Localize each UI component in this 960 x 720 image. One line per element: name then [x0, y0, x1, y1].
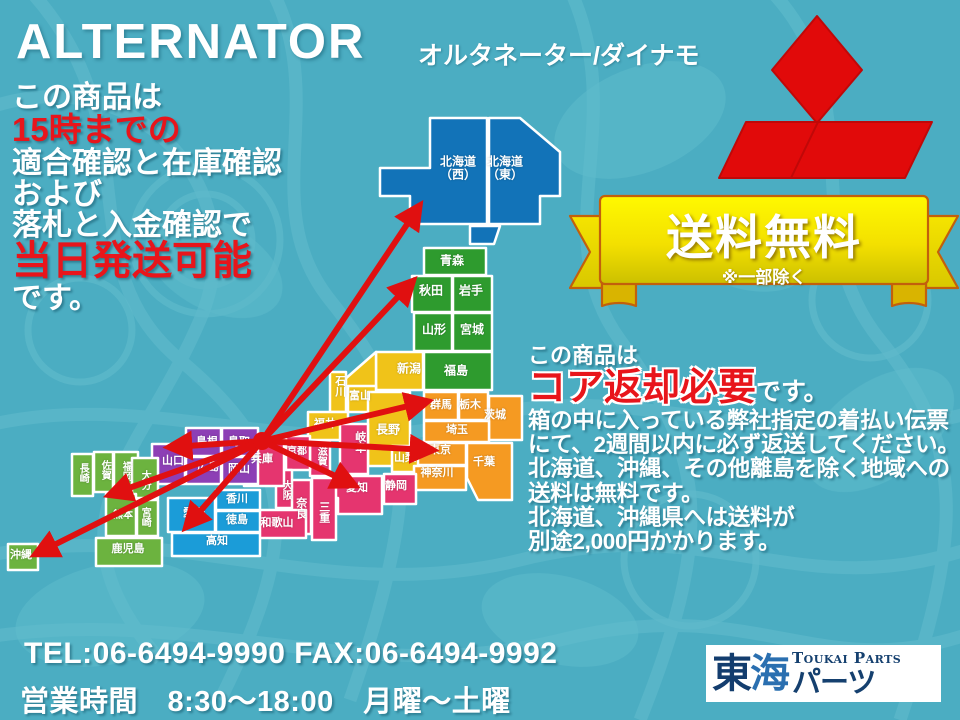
page-subtitle: オルタネーター/ダイナモ	[418, 44, 699, 69]
prefecture-label: 三重	[317, 501, 329, 523]
right-copy-block: この商品は コア返却必要です。 箱の中に入っている弊社指定の着払い伝票 にて、2…	[528, 344, 958, 555]
left-copy-deadline: 15時までの	[12, 113, 342, 147]
prefecture-label: 石川	[333, 375, 345, 397]
prefecture-label: 北海道（西）	[440, 155, 476, 180]
right-copy-line-6: 送料は無料です。	[528, 482, 958, 506]
page-title: ALTERNATOR	[16, 18, 365, 67]
prefecture-label: 愛媛	[183, 508, 205, 520]
right-copy-line-8: 別途2,000円かかります。	[528, 530, 958, 554]
prefecture-label: 埼玉	[446, 425, 468, 437]
prefecture-label: 福岡	[120, 461, 131, 481]
prefecture-label: 奈良	[294, 497, 306, 519]
logo-latin-name: Toukai Parts	[792, 651, 901, 666]
prefecture-label: 静岡	[385, 481, 407, 493]
prefecture-label: 茨城	[484, 410, 506, 422]
right-copy-line-5: 北海道、沖縄、その他離島を除く地域への	[528, 457, 958, 481]
prefecture-label: 青森	[440, 255, 464, 268]
prefecture-label: 長野	[376, 424, 400, 437]
prefecture-label: 岐阜	[353, 431, 365, 453]
prefecture-label: 山口	[162, 456, 184, 468]
prefecture-label: 山形	[422, 324, 446, 337]
prefecture-label: 宮崎	[139, 507, 150, 527]
logo-kanji-1: 東	[712, 650, 750, 697]
prefecture-label: 愛知	[346, 483, 368, 495]
prefecture-label: 新潟	[397, 363, 421, 376]
prefecture-label: 兵庫	[251, 454, 273, 466]
company-logo: 東海 Toukai Parts パーツ	[706, 645, 941, 702]
prefecture-label: 鹿児島	[112, 544, 145, 556]
prefecture-label: 長崎	[77, 463, 88, 483]
prefecture-label: 岡山	[228, 464, 250, 476]
mitsubishi-logo-icon	[700, 8, 935, 186]
prefecture-label: 宮城	[460, 324, 484, 337]
prefecture-label: 千葉	[473, 457, 495, 469]
prefecture-label: 徳島	[226, 515, 248, 527]
prefecture-label: 富山	[349, 391, 371, 403]
right-copy-line-4: にて、2週間以内に必ず返送してください。	[528, 433, 958, 457]
right-copy-line-3: 箱の中に入っている弊社指定の着払い伝票	[528, 409, 958, 433]
logo-kanji-2: 海	[750, 650, 788, 697]
prefecture-label: 島根	[196, 437, 218, 449]
free-shipping-ribbon: 送料無料 ※一部除く	[568, 192, 960, 310]
prefecture-label: 熊本	[113, 511, 133, 522]
prefecture-label: 東京	[429, 445, 451, 457]
prefecture-label: 大分	[139, 470, 150, 490]
logo-kana-name: パーツ	[792, 668, 901, 697]
left-copy-line-5: 落札と入金確認で	[12, 210, 342, 241]
right-copy-line-1: この商品は	[528, 344, 958, 368]
prefecture-label: 山梨	[394, 453, 416, 465]
prefecture-label: 沖縄	[10, 550, 32, 562]
flyer-root: 北海道（西）北海道（東）青森秋田岩手山形宮城福島新潟石川富山福井長野群馬栃木茨城…	[0, 0, 960, 720]
prefecture-label: 福島	[444, 365, 468, 378]
prefecture-label: 神奈川	[421, 468, 454, 480]
prefecture-label: 大阪	[280, 480, 291, 500]
prefecture-label: 広島	[197, 462, 219, 474]
prefecture-label: 北海道（東）	[487, 155, 523, 180]
prefecture-label: 滋賀	[315, 446, 326, 466]
left-copy-line-7: です。	[12, 283, 342, 314]
right-copy-line-7: 北海道、沖縄県へは送料が	[528, 506, 958, 530]
left-copy-same-day-shipping: 当日発送可能	[12, 241, 342, 283]
core-return-headline: コア返却必要です。	[528, 368, 958, 409]
prefecture-label: 栃木	[459, 400, 481, 412]
prefecture-label: 香川	[226, 494, 248, 506]
prefecture-label: 和歌山	[261, 518, 294, 530]
prefecture-label: 岩手	[459, 285, 483, 298]
prefecture-label: 佐賀	[99, 460, 110, 480]
contact-info: TEL:06-6494-9990 FAX:06-6494-9992	[24, 637, 557, 671]
prefecture-label: 高知	[206, 536, 228, 548]
core-return-suffix: です。	[756, 378, 829, 406]
business-hours: 営業時間 8:30〜18:00 月曜〜土曜	[20, 678, 511, 720]
core-return-red: コア返却必要	[528, 367, 756, 409]
prefecture-label: 鳥取	[228, 437, 250, 449]
prefecture-label: 秋田	[419, 285, 443, 298]
left-copy-line-1: この商品は	[12, 82, 342, 113]
prefecture-label: 福井	[314, 419, 336, 431]
left-copy-block: この商品は 15時までの 適合確認と在庫確認 および 落札と入金確認で 当日発送…	[12, 82, 342, 314]
prefecture-label: 京都	[287, 447, 307, 458]
left-copy-line-4: および	[12, 179, 342, 210]
prefecture-label: 群馬	[430, 400, 452, 412]
left-copy-line-3: 適合確認と在庫確認	[12, 148, 342, 179]
logo-kanji: 東海	[712, 654, 788, 694]
